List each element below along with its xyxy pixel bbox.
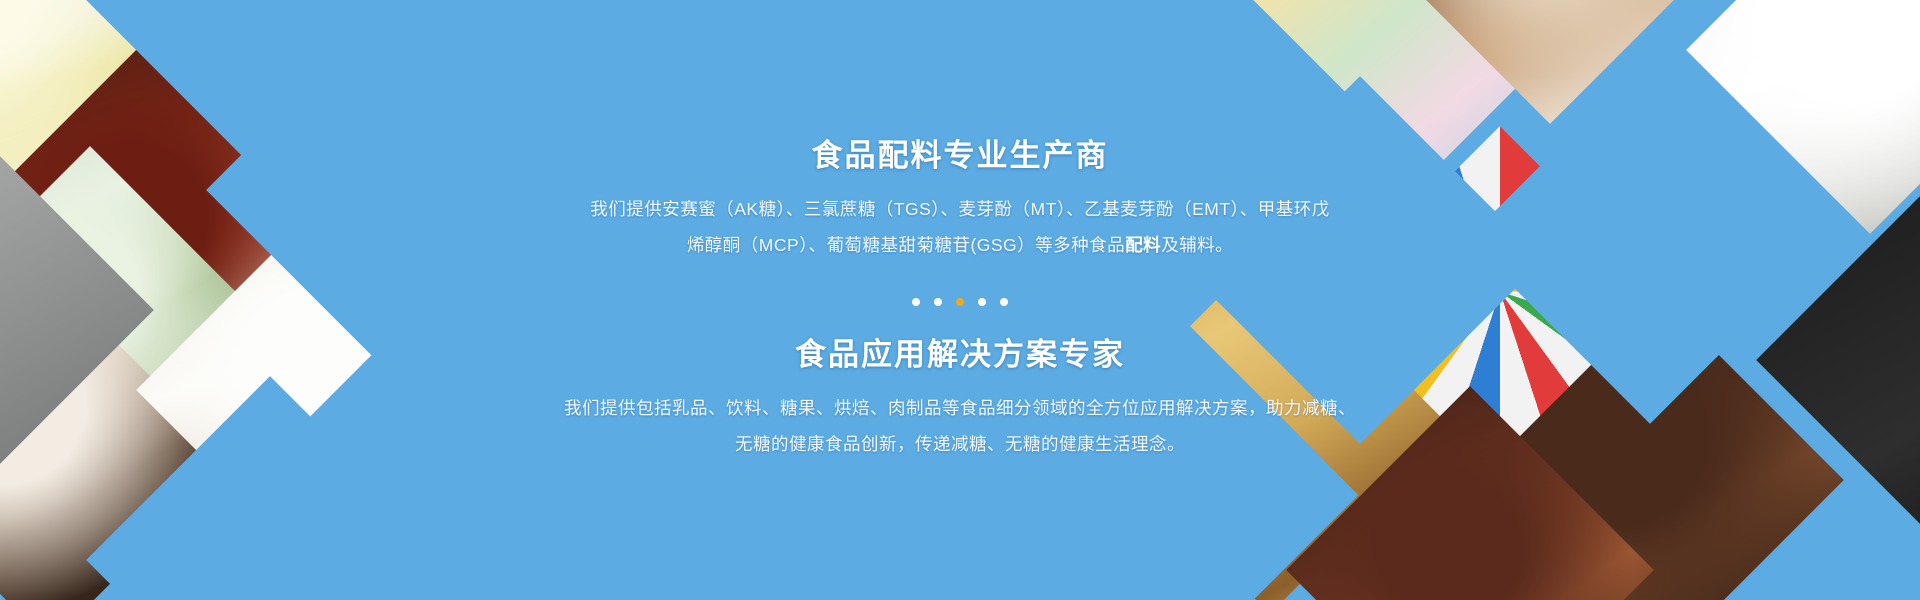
page-title: 食品配料专业生产商 [812,137,1109,174]
divider-dot-accent [956,298,964,306]
section-solutions-paragraph: 我们提供包括乳品、饮料、糖果、烘焙、肉制品等食品细分领域的全方位应用解决方案，助… [564,391,1356,463]
dot-divider [912,298,1008,306]
banner-content: 食品配料专业生产商 我们提供安赛蜜（AK糖）、三氯蔗糖（TGS）、麦芽酚（MT）… [0,0,1920,600]
section-solutions: 食品应用解决方案专家 我们提供包括乳品、饮料、糖果、烘焙、肉制品等食品细分领域的… [564,336,1356,463]
food-ingredients-hero-banner: 食品配料专业生产商 我们提供安赛蜜（AK糖）、三氯蔗糖（TGS）、麦芽酚（MT）… [0,0,1920,600]
divider-dot [934,298,942,306]
paragraph-line: 烯醇酮（MCP）、葡萄糖基甜菊糖苷(GSG）等多种食品配料及辅料。 [687,235,1233,255]
paragraph-line: 无糖的健康食品创新，传递减糖、无糖的健康生活理念。 [735,434,1185,454]
section-solutions-title: 食品应用解决方案专家 [795,336,1125,373]
section-manufacturer-paragraph: 我们提供安赛蜜（AK糖）、三氯蔗糖（TGS）、麦芽酚（MT）、乙基麦芽酚（EMT… [590,192,1330,264]
paragraph-line: 我们提供包括乳品、饮料、糖果、烘焙、肉制品等食品细分领域的全方位应用解决方案，助… [564,398,1356,418]
paragraph-line: 我们提供安赛蜜（AK糖）、三氯蔗糖（TGS）、麦芽酚（MT）、乙基麦芽酚（EMT… [590,199,1330,219]
section-manufacturer: 食品配料专业生产商 我们提供安赛蜜（AK糖）、三氯蔗糖（TGS）、麦芽酚（MT）… [590,137,1330,264]
divider-dot [912,298,920,306]
divider-dot [978,298,986,306]
divider-dot [1000,298,1008,306]
